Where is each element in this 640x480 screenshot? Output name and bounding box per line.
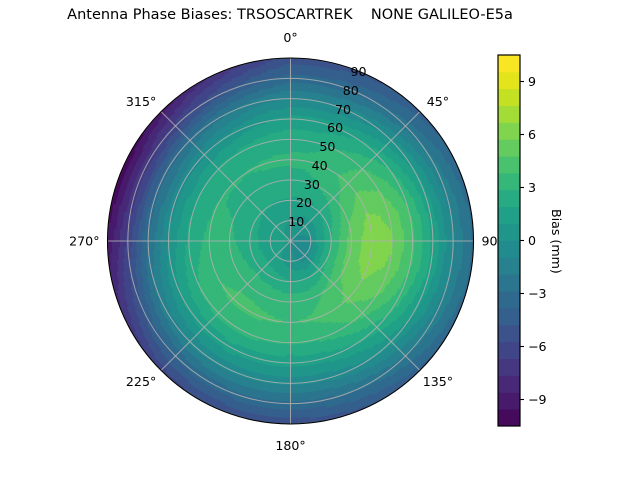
colorbar-tick--6: −6 xyxy=(528,339,547,354)
colorbar-tick-0: 0 xyxy=(528,233,536,248)
figure-canvas: Antenna Phase Biases: TRSOSCARTREK NONE … xyxy=(0,0,640,480)
colorbar xyxy=(0,0,640,480)
colorbar-tick--3: −3 xyxy=(528,286,547,301)
colorbar-tick-9: 9 xyxy=(528,74,536,89)
colorbar-tick-6: 6 xyxy=(528,127,536,142)
colorbar-tick-3: 3 xyxy=(528,180,536,195)
colorbar-tick--9: −9 xyxy=(528,392,547,407)
colorbar-axis-label: Bias (mm) xyxy=(549,209,564,274)
